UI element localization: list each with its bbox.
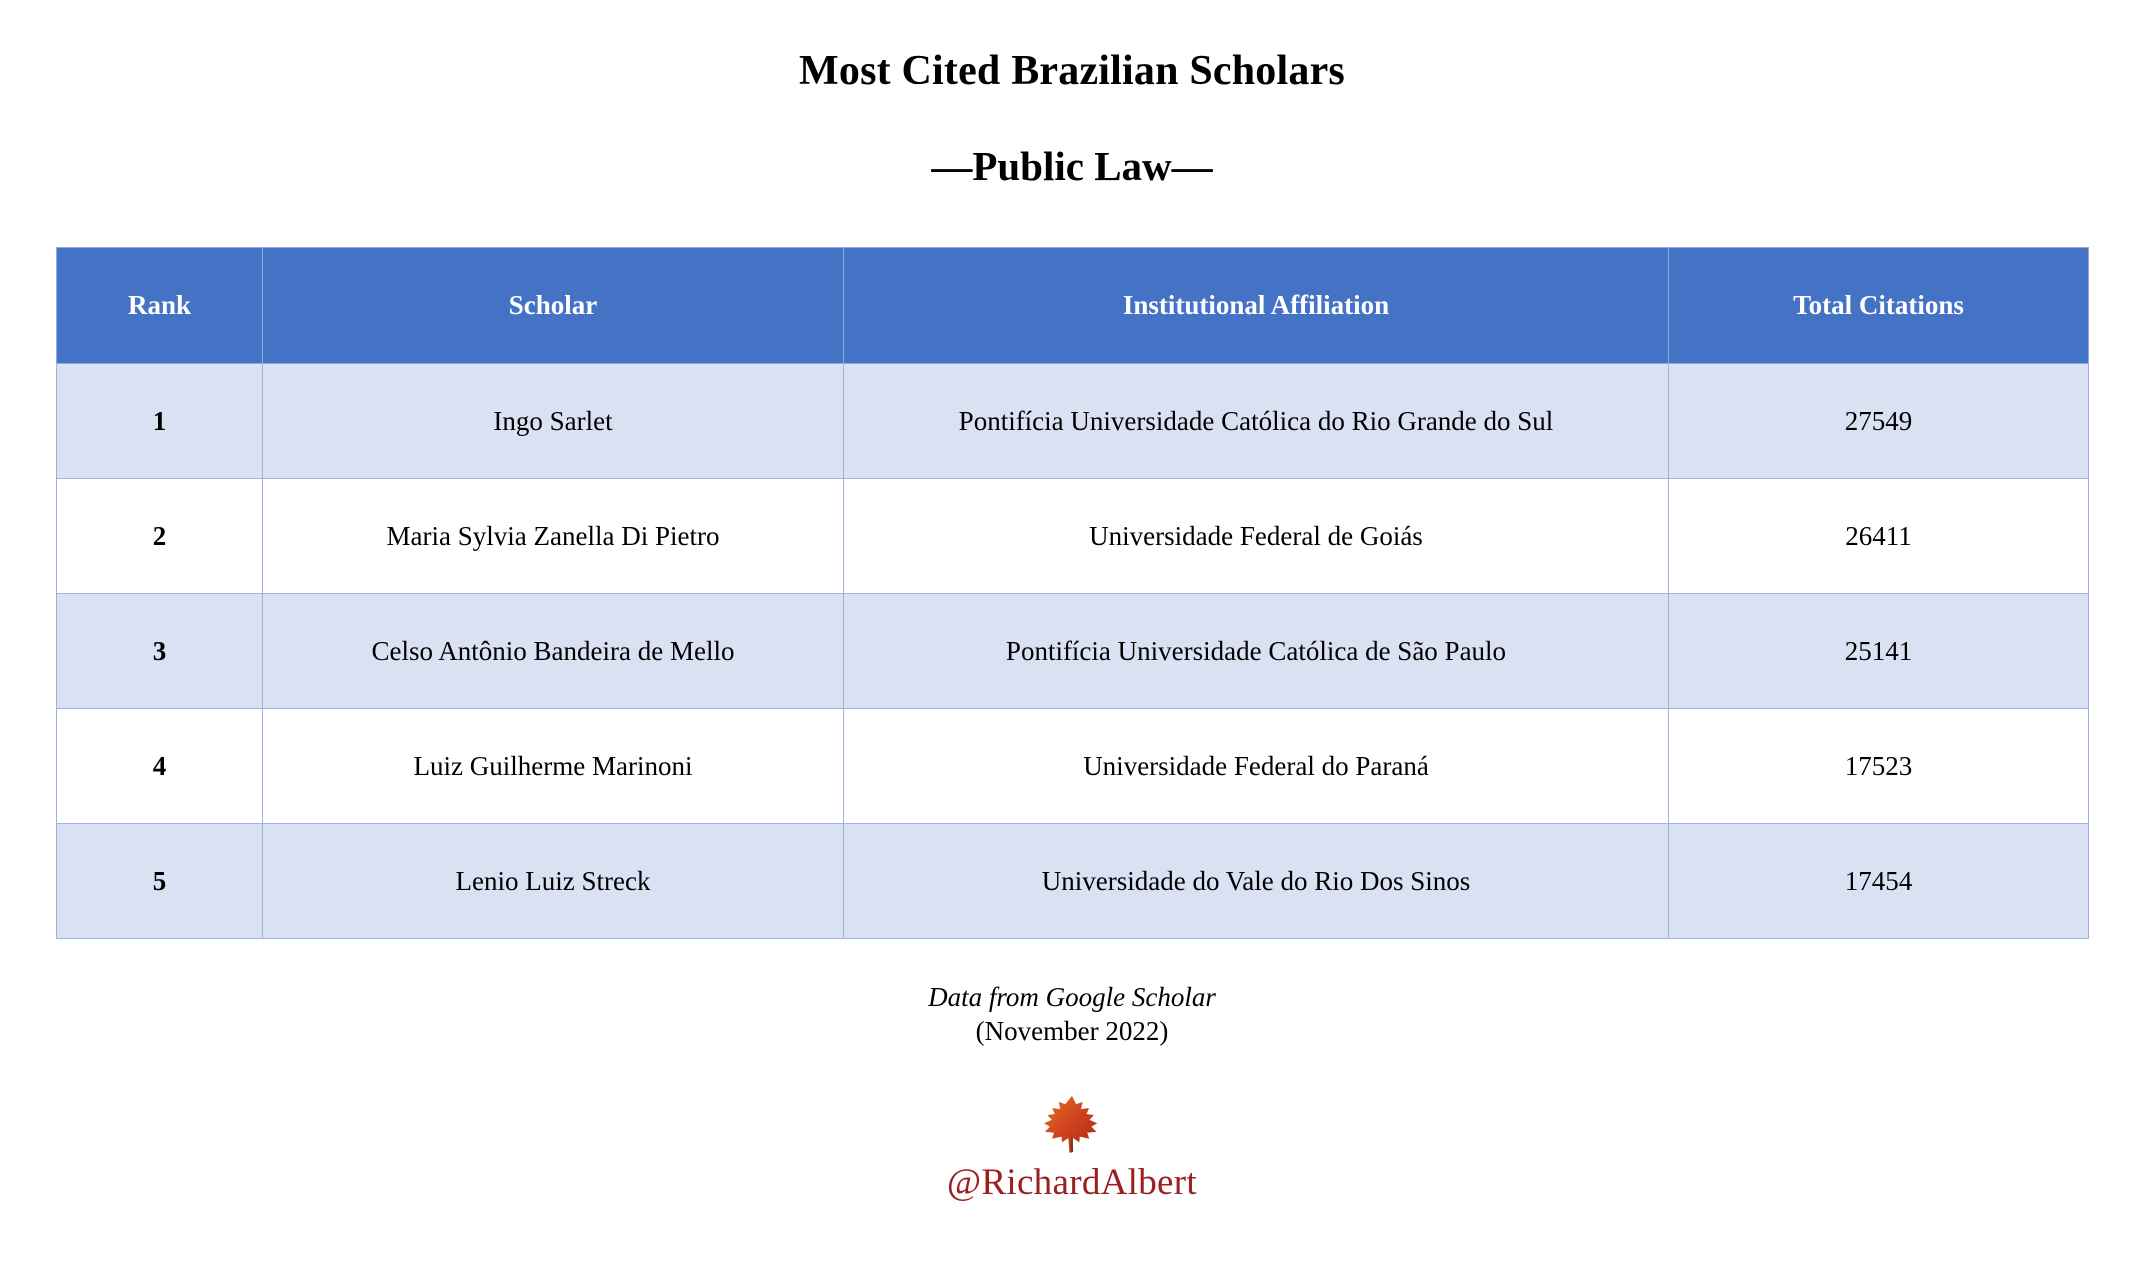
cell-scholar: Celso Antônio Bandeira de Mello: [263, 594, 844, 709]
table-header-row: Rank Scholar Institutional Affiliation T…: [57, 248, 2089, 364]
column-header-scholar: Scholar: [263, 248, 844, 364]
cell-rank: 2: [57, 479, 263, 594]
cell-scholar: Maria Sylvia Zanella Di Pietro: [263, 479, 844, 594]
table-row: 3 Celso Antônio Bandeira de Mello Pontif…: [57, 594, 2089, 709]
table-row: 2 Maria Sylvia Zanella Di Pietro Univers…: [57, 479, 2089, 594]
column-header-rank: Rank: [57, 248, 263, 364]
table-header: Rank Scholar Institutional Affiliation T…: [57, 248, 2089, 364]
data-date-label: (November 2022): [928, 1015, 1216, 1049]
cell-citations: 17454: [1669, 824, 2089, 939]
document-page: Most Cited Brazilian Scholars —Public La…: [0, 0, 2144, 1282]
page-title: Most Cited Brazilian Scholars: [799, 48, 1345, 94]
cell-affiliation: Universidade Federal do Paraná: [844, 709, 1669, 824]
cell-affiliation: Pontifícia Universidade Católica de São …: [844, 594, 1669, 709]
cell-rank: 3: [57, 594, 263, 709]
cell-affiliation: Universidade Federal de Goiás: [844, 479, 1669, 594]
cell-citations: 26411: [1669, 479, 2089, 594]
cell-citations: 27549: [1669, 364, 2089, 479]
data-source-label: Data from Google Scholar: [928, 981, 1216, 1015]
table-row: 4 Luiz Guilherme Marinoni Universidade F…: [57, 709, 2089, 824]
cell-affiliation: Universidade do Vale do Rio Dos Sinos: [844, 824, 1669, 939]
page-subtitle: —Public Law—: [931, 144, 1212, 189]
column-header-affiliation: Institutional Affiliation: [844, 248, 1669, 364]
column-header-citations: Total Citations: [1669, 248, 2089, 364]
footer-note: Data from Google Scholar (November 2022): [928, 981, 1216, 1049]
cell-citations: 25141: [1669, 594, 2089, 709]
citations-table-container: Rank Scholar Institutional Affiliation T…: [56, 247, 2088, 939]
cell-citations: 17523: [1669, 709, 2089, 824]
cell-rank: 1: [57, 364, 263, 479]
table-row: 5 Lenio Luiz Streck Universidade do Vale…: [57, 824, 2089, 939]
cell-scholar: Lenio Luiz Streck: [263, 824, 844, 939]
table-body: 1 Ingo Sarlet Pontifícia Universidade Ca…: [57, 364, 2089, 939]
cell-rank: 5: [57, 824, 263, 939]
cell-affiliation: Pontifícia Universidade Católica do Rio …: [844, 364, 1669, 479]
cell-rank: 4: [57, 709, 263, 824]
cell-scholar: Ingo Sarlet: [263, 364, 844, 479]
maple-leaf-icon: [1041, 1093, 1103, 1155]
author-handle: @RichardAlbert: [947, 1161, 1197, 1204]
cell-scholar: Luiz Guilherme Marinoni: [263, 709, 844, 824]
signature-block: @RichardAlbert: [947, 1093, 1197, 1204]
citations-table: Rank Scholar Institutional Affiliation T…: [56, 247, 2089, 939]
table-row: 1 Ingo Sarlet Pontifícia Universidade Ca…: [57, 364, 2089, 479]
